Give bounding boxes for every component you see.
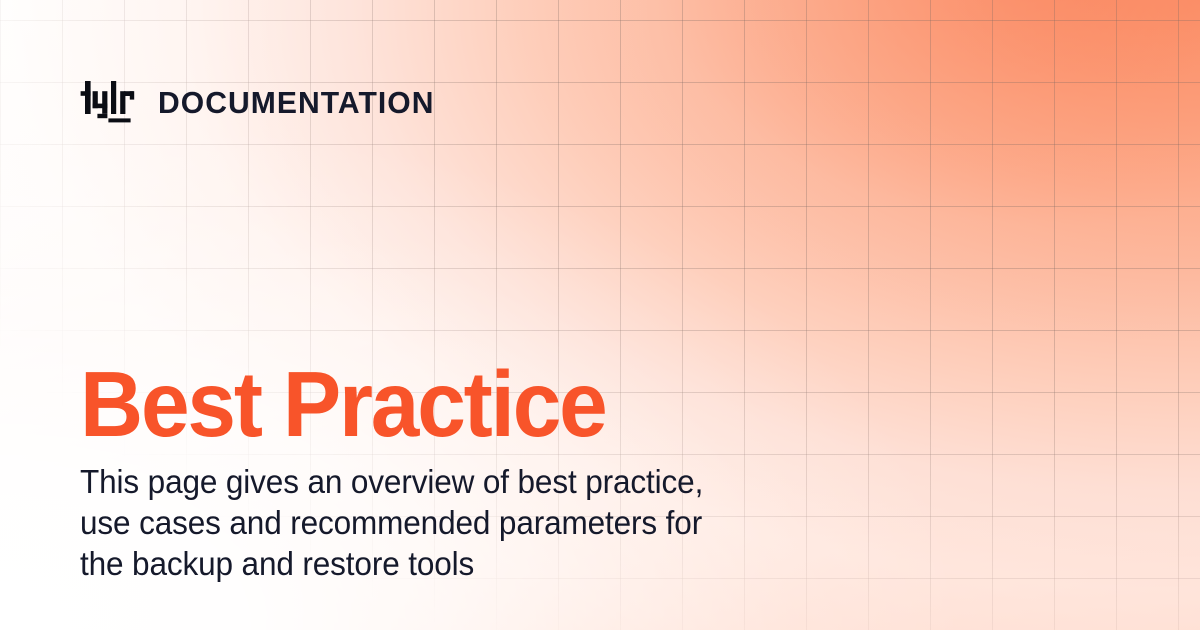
subtitle-line: This page gives an overview of best prac… [80,461,863,502]
page-subtitle: This page gives an overview of best prac… [80,461,863,584]
brand-lockup: DOCUMENTATION [80,78,443,126]
card-content: DOCUMENTATION Best Practice This page gi… [0,0,1200,630]
og-card: DOCUMENTATION Best Practice This page gi… [0,0,1200,630]
page-title: Best Practice [80,358,606,451]
fylr-logo-icon [80,78,138,126]
subtitle-line: the backup and restore tools [80,543,863,584]
brand-label: DOCUMENTATION [158,87,434,118]
subtitle-line: use cases and recommended parameters for [80,502,863,543]
